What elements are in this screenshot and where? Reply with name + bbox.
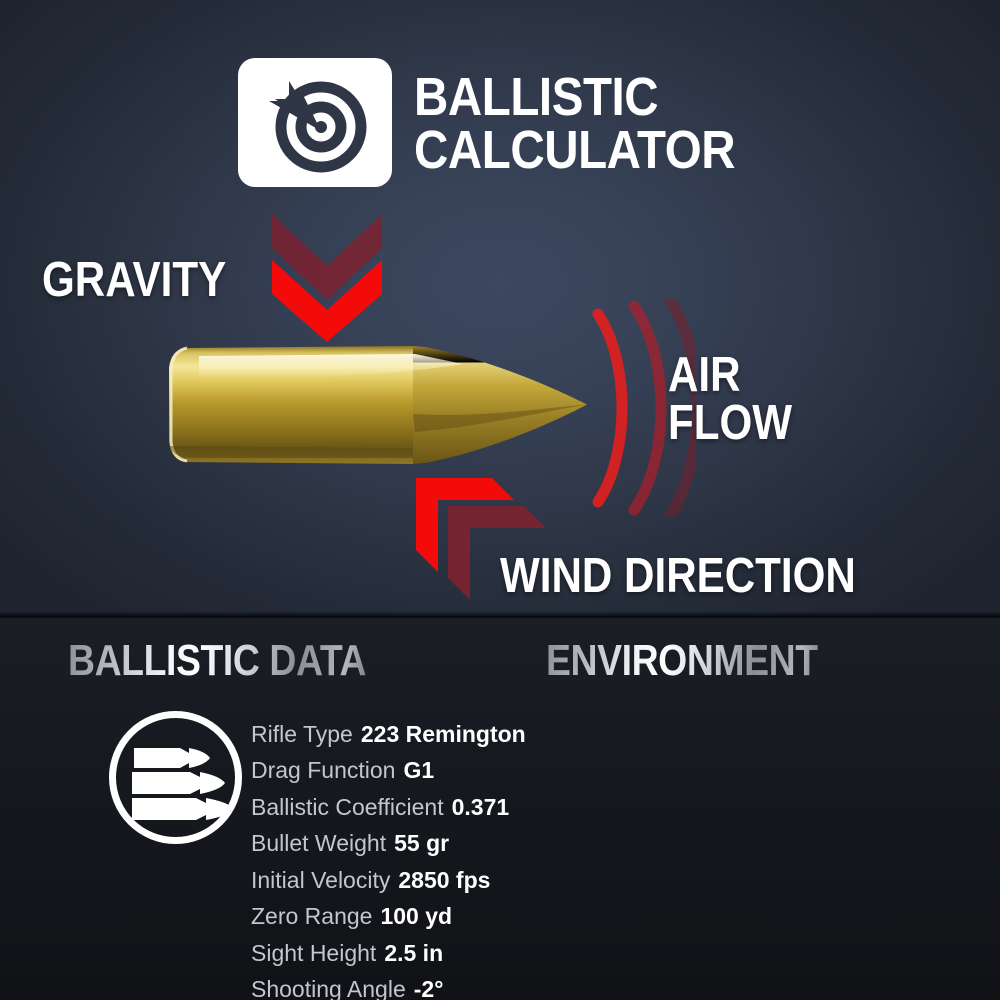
row-label: Bullet Weight — [251, 830, 386, 857]
data-row: Zero Range100 yd — [251, 899, 526, 936]
ballistic-data-rows: Rifle Type223 Remington Drag FunctionG1 … — [251, 706, 526, 1000]
row-label: Shooting Angle — [251, 976, 406, 1000]
ballistic-calculator-infographic: GRAVITY AIR FLOW WIND DIRECTION BAL — [0, 0, 1000, 1000]
row-value: 2.5 in — [384, 940, 443, 967]
double-chevron-down-icon — [268, 214, 386, 342]
data-row: Sight Height2.5 in — [251, 935, 526, 972]
environment-title: ENVIRONMENT — [546, 636, 818, 686]
data-row: Ballistic Coefficient0.371 — [251, 789, 526, 826]
row-value: 2850 fps — [398, 867, 490, 894]
gravity-label: GRAVITY — [42, 252, 226, 308]
data-row: Initial Velocity2850 fps — [251, 862, 526, 899]
data-row: Drag FunctionG1 — [251, 753, 526, 790]
environment-section: ENVIRONMENT — [500, 618, 1000, 1000]
row-value: 55 gr — [394, 830, 449, 857]
row-label: Rifle Type — [251, 721, 353, 748]
ballistic-data-section: BALLISTIC DATA — [0, 618, 500, 1000]
wind-direction-label: WIND DIRECTION — [500, 548, 856, 604]
data-row: Bullet Weight55 gr — [251, 826, 526, 863]
row-value: -2° — [414, 976, 444, 1000]
row-value: 100 yd — [380, 903, 452, 930]
brand-logo: BALLISTIC CALCULATOR — [238, 58, 779, 187]
row-label: Ballistic Coefficient — [251, 794, 444, 821]
hero-diagram-panel: GRAVITY AIR FLOW WIND DIRECTION BAL — [0, 0, 1000, 617]
brand-title: BALLISTIC CALCULATOR — [414, 58, 779, 187]
cartridges-icon — [104, 706, 247, 849]
target-arrow-icon — [238, 58, 392, 187]
row-label: Zero Range — [251, 903, 372, 930]
airflow-label-line2: FLOW — [668, 400, 792, 448]
data-panel: BALLISTIC DATA — [0, 617, 1000, 1000]
airflow-label-line1: AIR — [668, 352, 792, 400]
row-label: Drag Function — [251, 757, 395, 784]
brand-title-line1: BALLISTIC — [414, 71, 735, 124]
ballistic-data-title: BALLISTIC DATA — [68, 636, 366, 686]
row-label: Initial Velocity — [251, 867, 390, 894]
row-label: Sight Height — [251, 940, 376, 967]
row-value: G1 — [403, 757, 434, 784]
data-row: Rifle Type223 Remington — [251, 716, 526, 753]
rifle-bullet-illustration — [163, 334, 588, 475]
brand-title-line2: CALCULATOR — [414, 124, 735, 177]
airflow-label: AIR FLOW — [668, 352, 812, 447]
data-row: Shooting Angle-2° — [251, 972, 526, 1000]
